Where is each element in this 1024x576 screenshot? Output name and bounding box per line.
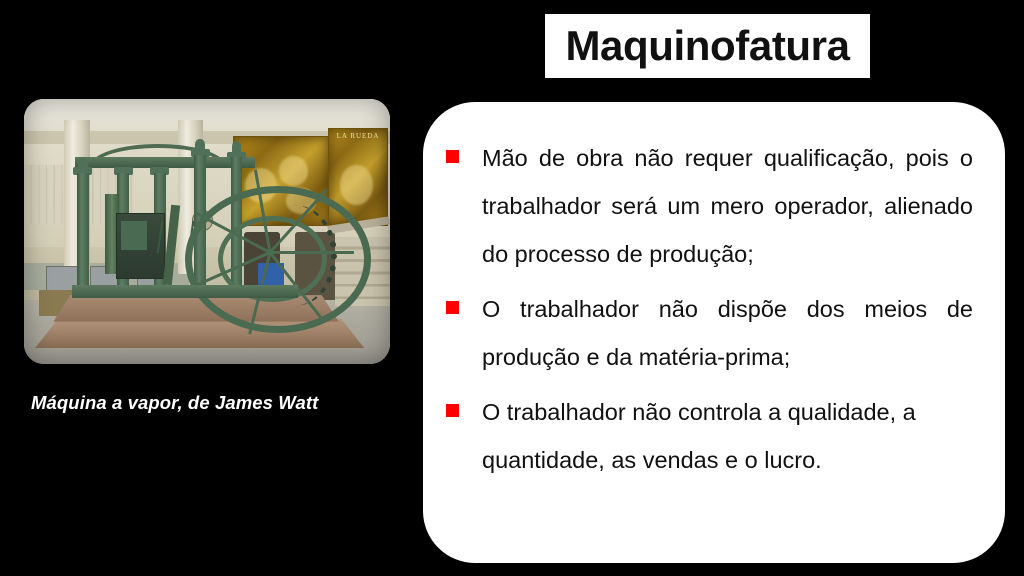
list-item: O trabalhador não dispõe dos meios de pr… [446,285,973,381]
list-item: Mão de obra não requer qualificação, poi… [446,134,973,278]
bullet-text: O trabalhador não controla a qualidade, … [482,388,973,484]
engine-base-beam [72,285,299,298]
engine-valve-gear [121,221,147,250]
photo-scene: LA RUEDA [24,99,390,364]
pillar-finial [78,157,88,168]
flywheel-spoke [270,251,354,254]
page-title: Maquinofatura [565,25,849,67]
mural-figure [279,156,308,186]
list-item: O trabalhador não controla a qualidade, … [446,388,973,484]
bullet-text: O trabalhador não dispõe dos meios de pr… [482,285,973,381]
slide: Maquinofatura LA RUEDA [0,0,1024,576]
mural-figure [340,165,372,205]
content-panel: Mão de obra não requer qualificação, poi… [423,102,1005,563]
red-square-bullet-icon [446,301,459,314]
bullet-list: Mão de obra não requer qualificação, poi… [446,134,973,491]
watt-steam-engine-photo: LA RUEDA [24,99,390,364]
bullet-text: Mão de obra não requer qualificação, poi… [482,134,973,278]
photo-caption: Máquina a vapor, de James Watt [31,392,318,414]
red-square-bullet-icon [446,404,459,417]
title-box: Maquinofatura [545,14,870,78]
pillar-finial [195,139,205,150]
engine-pillar [77,173,89,292]
pillar-finial [232,141,242,152]
mural-label: LA RUEDA [329,132,388,140]
red-square-bullet-icon [446,150,459,163]
